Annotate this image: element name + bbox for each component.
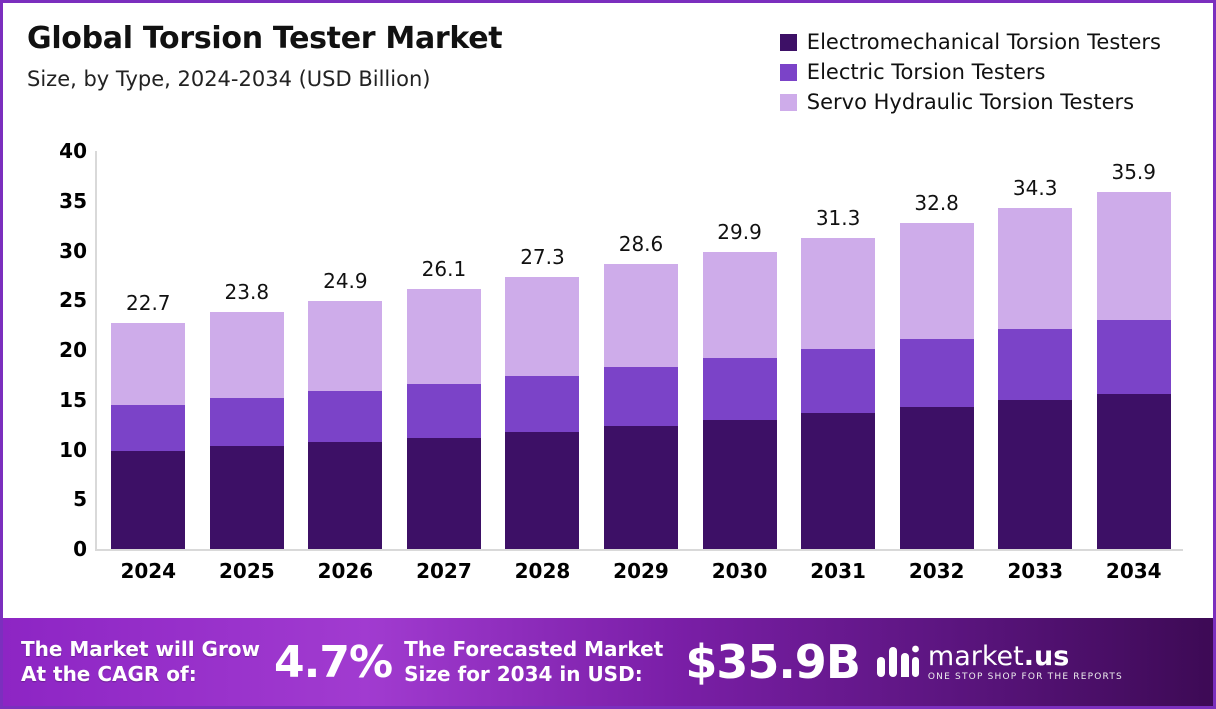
bar-segment <box>801 349 875 413</box>
stacked-bar <box>801 238 875 549</box>
x-axis-tick-label: 2030 <box>690 559 789 583</box>
bar-segment <box>407 384 481 438</box>
forecast-label-line1: The Forecasted Market <box>404 637 663 662</box>
stacked-bar <box>111 323 185 549</box>
bar-column: 22.7 <box>99 151 198 549</box>
bar-column: 35.9 <box>1084 151 1183 549</box>
bar-segment <box>308 442 382 549</box>
y-axis-tick-label: 30 <box>59 239 87 263</box>
bar-segment <box>703 358 777 420</box>
stacked-bar <box>308 301 382 549</box>
cagr-value: 4.7% <box>274 637 392 688</box>
y-axis-tick-label: 5 <box>73 487 87 511</box>
legend-item: Servo Hydraulic Torsion Testers <box>780 90 1161 114</box>
bar-segment <box>505 432 579 549</box>
legend-item: Electromechanical Torsion Testers <box>780 30 1161 54</box>
x-axis-tick-label: 2033 <box>986 559 1085 583</box>
stacked-bar <box>703 252 777 549</box>
bar-segment <box>801 238 875 349</box>
page-title: Global Torsion Tester Market <box>27 21 502 56</box>
bar-segment <box>801 413 875 549</box>
y-axis-line <box>95 151 97 549</box>
cagr-label-line2: At the CAGR of: <box>21 662 260 687</box>
x-axis-tick-label: 2028 <box>493 559 592 583</box>
bar-segment <box>210 398 284 446</box>
bar-segment <box>900 407 974 549</box>
stacked-bar <box>407 289 481 549</box>
bar-total-label: 26.1 <box>422 257 467 281</box>
footer-banner: The Market will Grow At the CAGR of: 4.7… <box>3 618 1213 706</box>
x-axis-tick-label: 2029 <box>592 559 691 583</box>
brand-tagline: ONE STOP SHOP FOR THE REPORTS <box>928 673 1123 682</box>
bar-segment <box>900 339 974 407</box>
legend-label: Electromechanical Torsion Testers <box>807 30 1161 54</box>
stacked-bar <box>505 277 579 549</box>
bar-segment <box>505 376 579 432</box>
bar-segment <box>998 329 1072 400</box>
bar-segment <box>111 405 185 451</box>
bar-total-label: 32.8 <box>914 191 959 215</box>
bar-column: 27.3 <box>493 151 592 549</box>
bar-chart-icon <box>876 643 920 681</box>
brand-name-1: market <box>928 641 1024 672</box>
bar-segment <box>604 426 678 549</box>
x-axis-tick-label: 2027 <box>395 559 494 583</box>
bar-segment <box>308 391 382 442</box>
x-axis-tick-label: 2026 <box>296 559 395 583</box>
bar-total-label: 24.9 <box>323 269 368 293</box>
stacked-bar <box>1097 192 1171 549</box>
bar-segment <box>407 438 481 549</box>
page-subtitle: Size, by Type, 2024-2034 (USD Billion) <box>27 67 430 91</box>
bar-segment <box>1097 192 1171 320</box>
bar-column: 31.3 <box>789 151 888 549</box>
y-axis-tick-label: 10 <box>59 438 87 462</box>
bar-segment <box>900 223 974 339</box>
bar-total-label: 27.3 <box>520 245 565 269</box>
legend-swatch-icon <box>780 64 797 81</box>
bar-column: 29.9 <box>690 151 789 549</box>
bars-container: 22.723.824.926.127.328.629.931.332.834.3… <box>99 151 1183 549</box>
y-axis-tick-label: 0 <box>73 537 87 561</box>
x-axis-tick-label: 2025 <box>198 559 297 583</box>
bar-segment <box>998 400 1072 549</box>
stacked-bar <box>210 312 284 549</box>
legend-label: Electric Torsion Testers <box>807 60 1046 84</box>
bar-segment <box>407 289 481 384</box>
brand-text: market.us ONE STOP SHOP FOR THE REPORTS <box>928 643 1123 682</box>
bar-column: 34.3 <box>986 151 1085 549</box>
bar-total-label: 29.9 <box>717 220 762 244</box>
bar-segment <box>308 301 382 391</box>
brand-logo: market.us ONE STOP SHOP FOR THE REPORTS <box>876 643 1123 682</box>
legend-swatch-icon <box>780 94 797 111</box>
bar-segment <box>210 446 284 549</box>
stacked-bar <box>900 223 974 549</box>
bar-segment <box>1097 394 1171 549</box>
x-axis-tick-label: 2032 <box>887 559 986 583</box>
infographic-page: Global Torsion Tester Market Size, by Ty… <box>0 0 1216 709</box>
y-axis-tick-label: 15 <box>59 388 87 412</box>
x-axis-tick-label: 2024 <box>99 559 198 583</box>
bar-segment <box>998 208 1072 329</box>
bar-total-label: 35.9 <box>1111 160 1156 184</box>
y-axis-tick-label: 40 <box>59 139 87 163</box>
x-axis-tick-label: 2034 <box>1084 559 1183 583</box>
y-axis-tick-label: 35 <box>59 189 87 213</box>
bar-column: 23.8 <box>198 151 297 549</box>
y-axis-tick-label: 20 <box>59 338 87 362</box>
bar-column: 24.9 <box>296 151 395 549</box>
bar-segment <box>1097 320 1171 394</box>
legend-label: Servo Hydraulic Torsion Testers <box>807 90 1134 114</box>
stacked-bar <box>604 264 678 549</box>
y-axis-tick-label: 25 <box>59 288 87 312</box>
bar-total-label: 28.6 <box>619 232 664 256</box>
forecast-label: The Forecasted Market Size for 2034 in U… <box>404 637 663 687</box>
bar-segment <box>210 312 284 398</box>
chart-legend: Electromechanical Torsion Testers Electr… <box>780 30 1161 120</box>
forecast-label-line2: Size for 2034 in USD: <box>404 662 663 687</box>
brand-name-2: .us <box>1024 641 1070 672</box>
cagr-label: The Market will Grow At the CAGR of: <box>21 637 260 687</box>
bar-column: 32.8 <box>887 151 986 549</box>
forecast-value: $35.9B <box>685 635 860 689</box>
bar-segment <box>111 451 185 550</box>
y-axis: 0510152025303540 <box>3 123 95 523</box>
bar-total-label: 34.3 <box>1013 176 1058 200</box>
stacked-bar-chart: 0510152025303540 22.723.824.926.127.328.… <box>3 123 1216 593</box>
bar-segment <box>505 277 579 376</box>
bar-segment <box>703 420 777 549</box>
legend-swatch-icon <box>780 34 797 51</box>
cagr-label-line1: The Market will Grow <box>21 637 260 662</box>
bar-segment <box>111 323 185 405</box>
bar-total-label: 31.3 <box>816 206 861 230</box>
legend-item: Electric Torsion Testers <box>780 60 1161 84</box>
x-axis: 2024202520262027202820292030203120322033… <box>99 559 1183 583</box>
bar-segment <box>703 252 777 358</box>
bar-segment <box>604 367 678 426</box>
bar-total-label: 22.7 <box>126 291 171 315</box>
bar-total-label: 23.8 <box>225 280 270 304</box>
bar-column: 28.6 <box>592 151 691 549</box>
x-axis-line <box>95 549 1183 551</box>
x-axis-tick-label: 2031 <box>789 559 888 583</box>
stacked-bar <box>998 208 1072 549</box>
bar-column: 26.1 <box>395 151 494 549</box>
bar-segment <box>604 264 678 366</box>
